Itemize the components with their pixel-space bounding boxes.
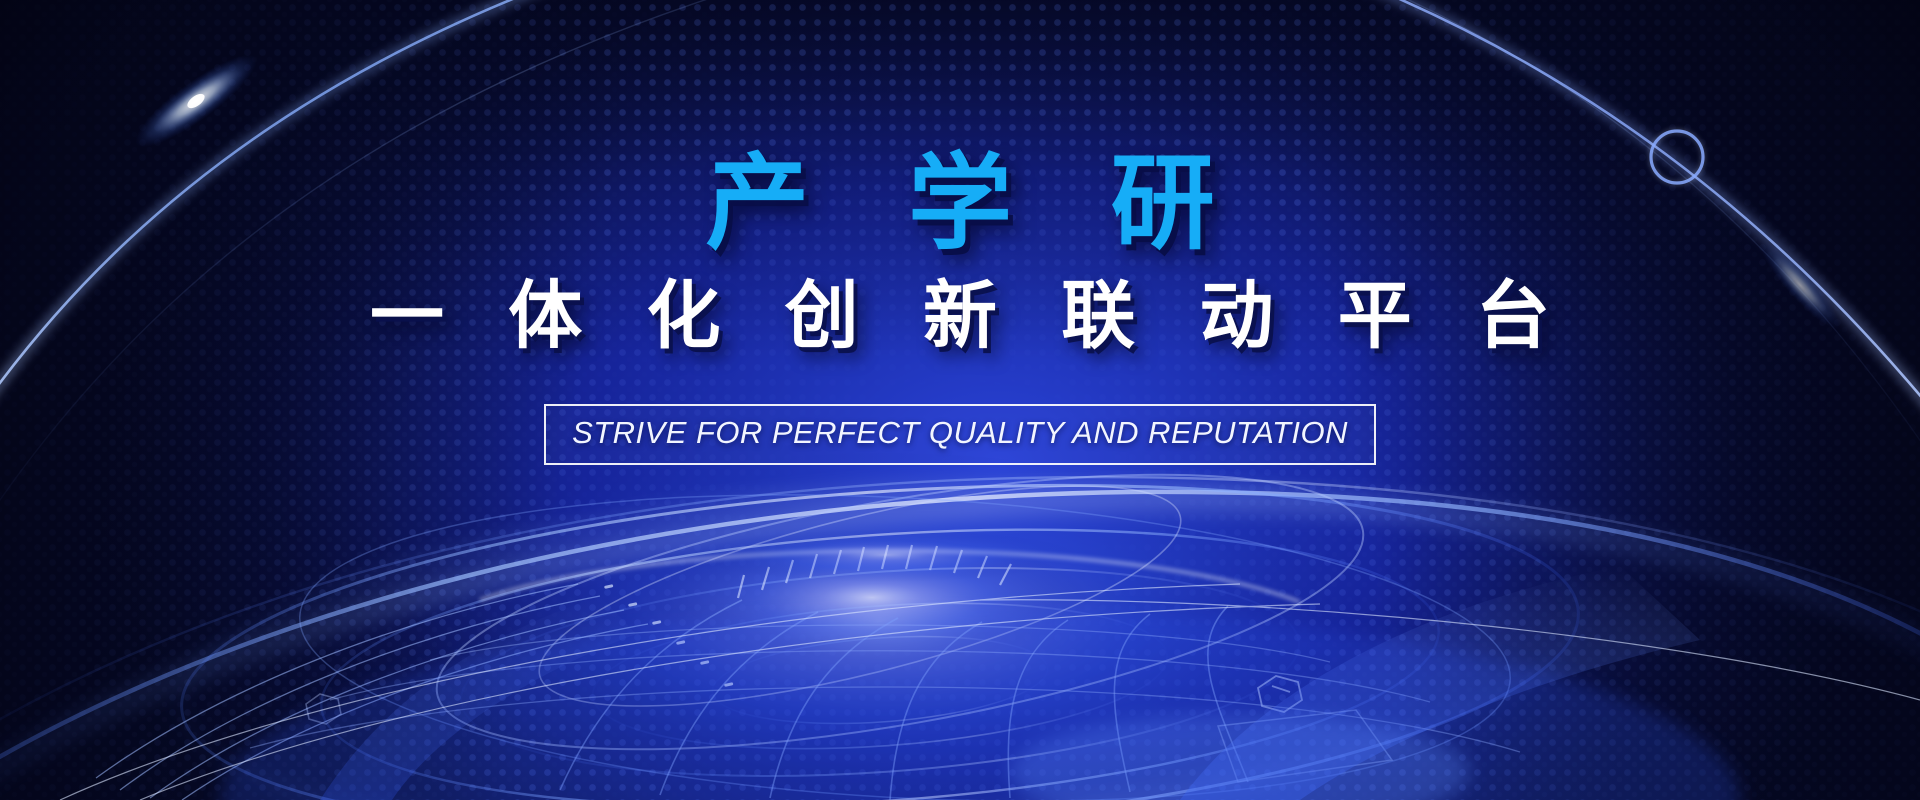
tagline-text: STRIVE FOR PERFECT QUALITY AND REPUTATIO… bbox=[572, 415, 1348, 451]
banner-root: 产 学 研 一 体 化 创 新 联 动 平 台 STRIVE FOR PERFE… bbox=[0, 0, 1920, 800]
page-title-main: 产 学 研 bbox=[674, 148, 1246, 258]
tagline-box: STRIVE FOR PERFECT QUALITY AND REPUTATIO… bbox=[544, 404, 1376, 465]
page-title-sub: 一 体 化 创 新 联 动 平 台 bbox=[351, 276, 1569, 357]
banner-content: 产 学 研 一 体 化 创 新 联 动 平 台 STRIVE FOR PERFE… bbox=[0, 0, 1920, 800]
